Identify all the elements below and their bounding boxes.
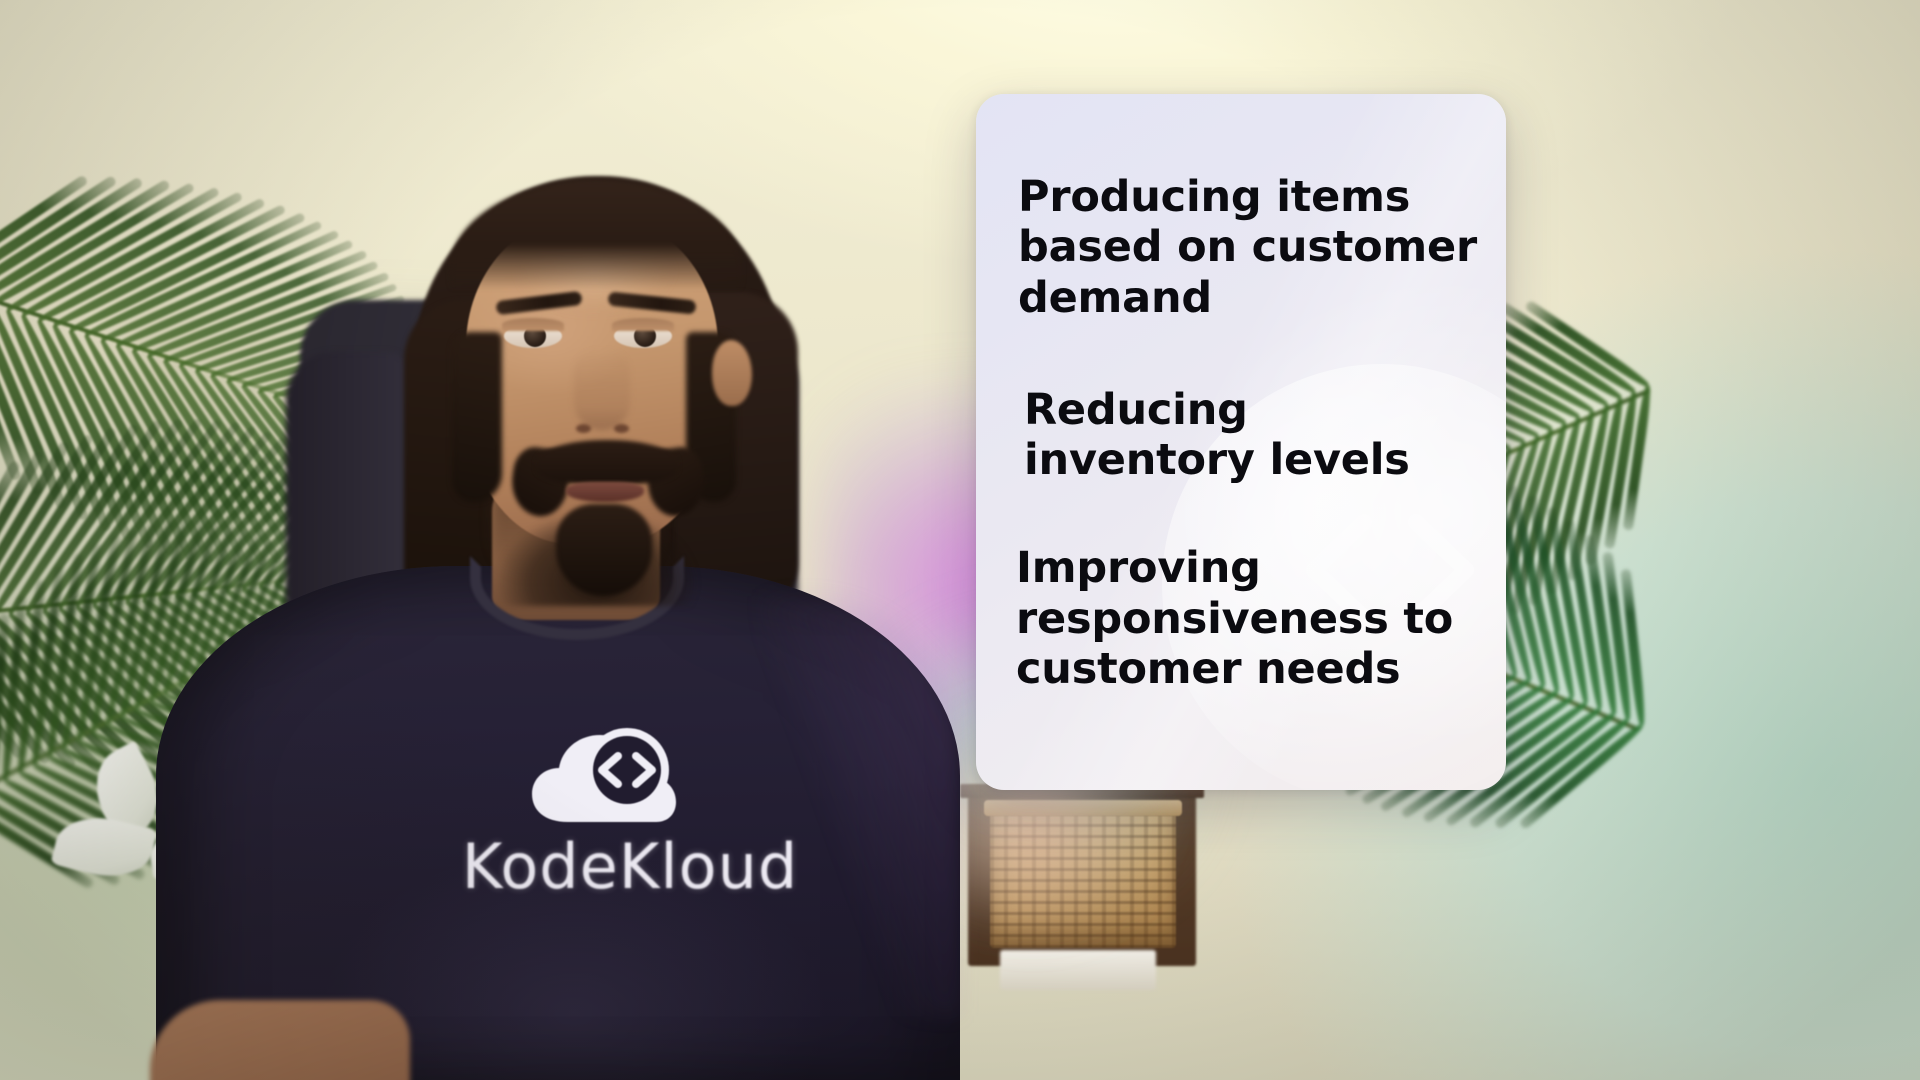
video-frame: KodeKloud Producing items based on custo… (0, 0, 1920, 1080)
slide-overlay-card: Producing items based on customer demand… (976, 94, 1506, 790)
slide-bullet-2: Reducing inventory levels (1024, 385, 1486, 486)
slide-bullet-list: Producing items based on customer demand… (1016, 172, 1486, 694)
slide-bullet-3: Improving responsiveness to customer nee… (1016, 543, 1486, 694)
vignette (0, 0, 1920, 1080)
slide-bullet-1: Producing items based on customer demand (1018, 172, 1486, 323)
